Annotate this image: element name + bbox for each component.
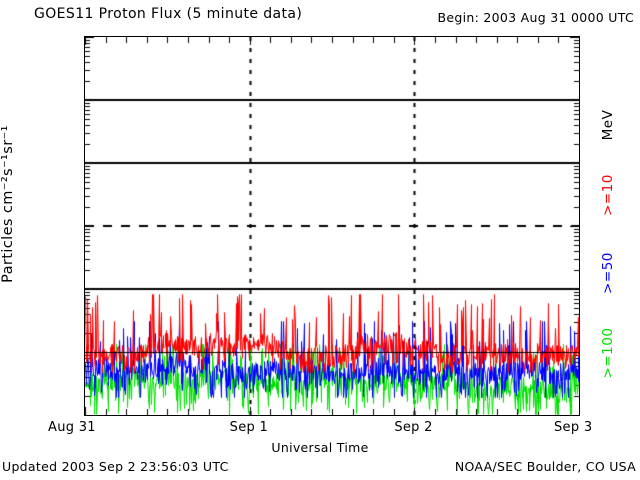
proton-flux-traces: [85, 37, 579, 415]
begin-time-label: Begin: 2003 Aug 31 0000 UTC: [438, 10, 635, 25]
x-tick-label: Sep 1: [230, 420, 268, 435]
x-tick-label: Sep 2: [394, 420, 432, 435]
footer-source-label: NOAA/SEC Boulder, CO USA: [455, 459, 636, 474]
x-tick-label: Sep 3: [554, 420, 592, 435]
y-axis-label: Particles cm⁻²s⁻¹sr⁻¹: [0, 0, 16, 434]
footer-updated-timestamp: Updated 2003 Sep 2 23:56:03 UTC: [2, 459, 229, 474]
plot-area: [84, 36, 580, 416]
page-title: GOES11 Proton Flux (5 minute data): [34, 6, 302, 22]
x-tick-label: Aug 31: [48, 420, 96, 435]
plot-inner: [85, 37, 579, 415]
x-axis-label: Universal Time: [0, 440, 640, 455]
legend-ge100: >=100: [600, 288, 616, 418]
